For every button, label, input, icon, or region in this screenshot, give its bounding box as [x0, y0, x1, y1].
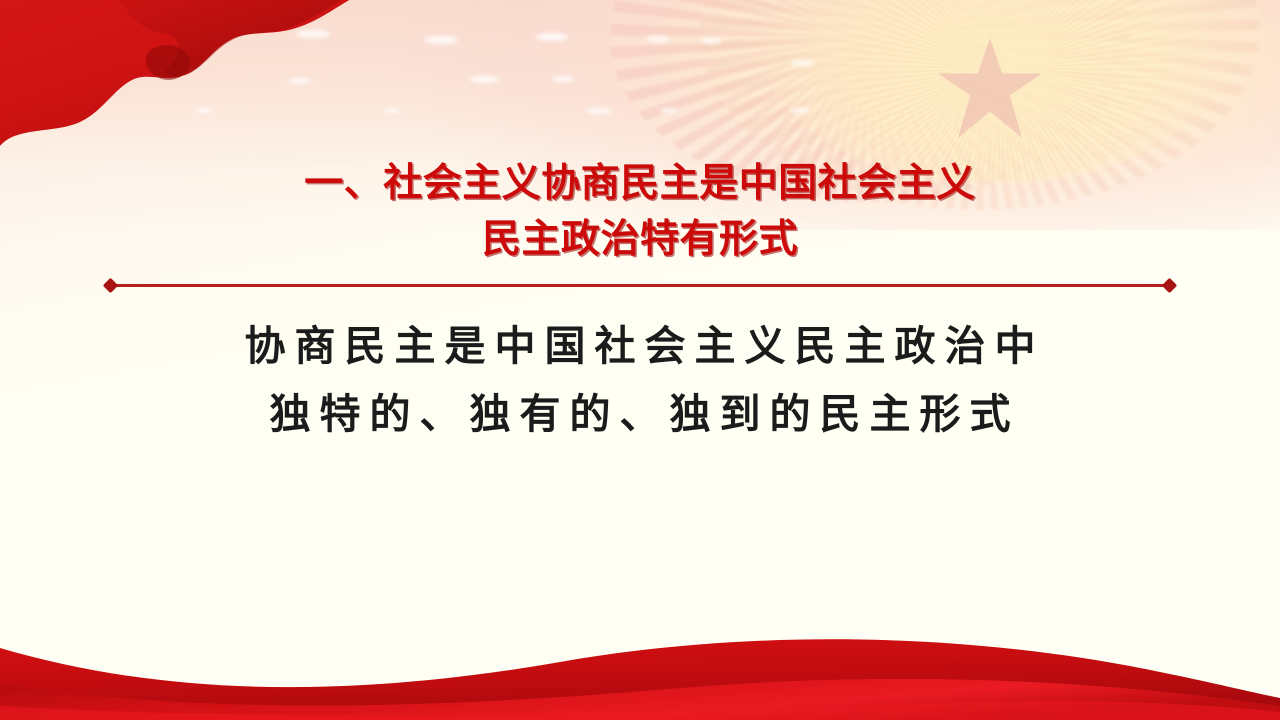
slide-canvas: 一、社会主义协商民主是中国社会主义 民主政治特有形式 协商民主是中国社会主义民主… [0, 0, 1280, 720]
title-divider-rule [110, 284, 1170, 287]
red-wave-ribbon-icon [0, 610, 1280, 720]
body-line-1: 协商民主是中国社会主义民主政治中 [0, 312, 1280, 380]
title-line-1: 一、社会主义协商民主是中国社会主义 [0, 156, 1280, 212]
body-line-2: 独特的、独有的、独到的民主形式 [0, 380, 1280, 448]
title-line-2: 民主政治特有形式 [0, 212, 1280, 268]
body-text: 协商民主是中国社会主义民主政治中 独特的、独有的、独到的民主形式 [0, 312, 1280, 448]
page-title: 一、社会主义协商民主是中国社会主义 民主政治特有形式 [0, 156, 1280, 268]
